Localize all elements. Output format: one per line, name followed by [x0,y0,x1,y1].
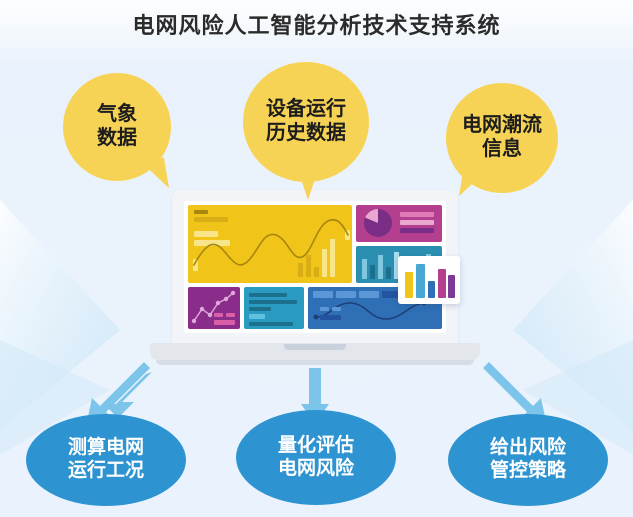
input-bubble-powerflow-line1: 电网潮流 [462,114,542,138]
outcome-control-line2: 管控策略 [490,460,566,483]
floating-card-bars-svg [398,256,460,304]
input-bubble-powerflow[interactable]: 电网潮流 信息 [446,83,558,193]
wave-line-chart-panel[interactable] [188,205,352,283]
outcome-bubble-assess[interactable]: 量化评估 电网风险 [236,410,396,505]
trend-line-panel[interactable] [188,287,240,329]
input-bubble-weather-line2: 数据 [97,127,137,151]
wave-line-chart-svg [188,205,352,283]
input-bubble-powerflow-line2: 信息 [482,138,522,162]
input-bubble-equipment-line2: 历史数据 [266,122,346,146]
input-bubble-weather-line1: 气象 [97,103,137,127]
outcome-assess-line2: 电网风险 [278,458,354,481]
outcome-calculate-line1: 测算电网 [68,437,144,460]
laptop-foot [156,360,474,365]
input-bubble-equipment[interactable]: 设备运行 历史数据 [243,62,369,182]
outcome-calculate-line2: 运行工况 [68,460,144,483]
outcome-bubble-calculate[interactable]: 测算电网 运行工况 [26,414,186,506]
input-bubble-equipment-line1: 设备运行 [266,98,346,122]
outcome-control-line1: 给出风险 [490,437,566,460]
infographic-canvas: 电网风险人工智能分析技术支持系统 气象 数据 设备运行 历史数据 电网潮流 信息 [0,0,633,517]
page-title: 电网风险人工智能分析技术支持系统 [0,8,633,40]
outcome-assess-line1: 量化评估 [278,435,354,458]
text-list-panel[interactable] [244,287,304,329]
floating-bar-stats-card[interactable] [398,256,460,304]
laptop-trackpad-notch [284,344,346,350]
outcome-bubble-control[interactable]: 给出风险 管控策略 [448,414,608,506]
pie-chart-panel[interactable] [356,205,442,242]
input-bubble-weather[interactable]: 气象 数据 [63,73,171,181]
